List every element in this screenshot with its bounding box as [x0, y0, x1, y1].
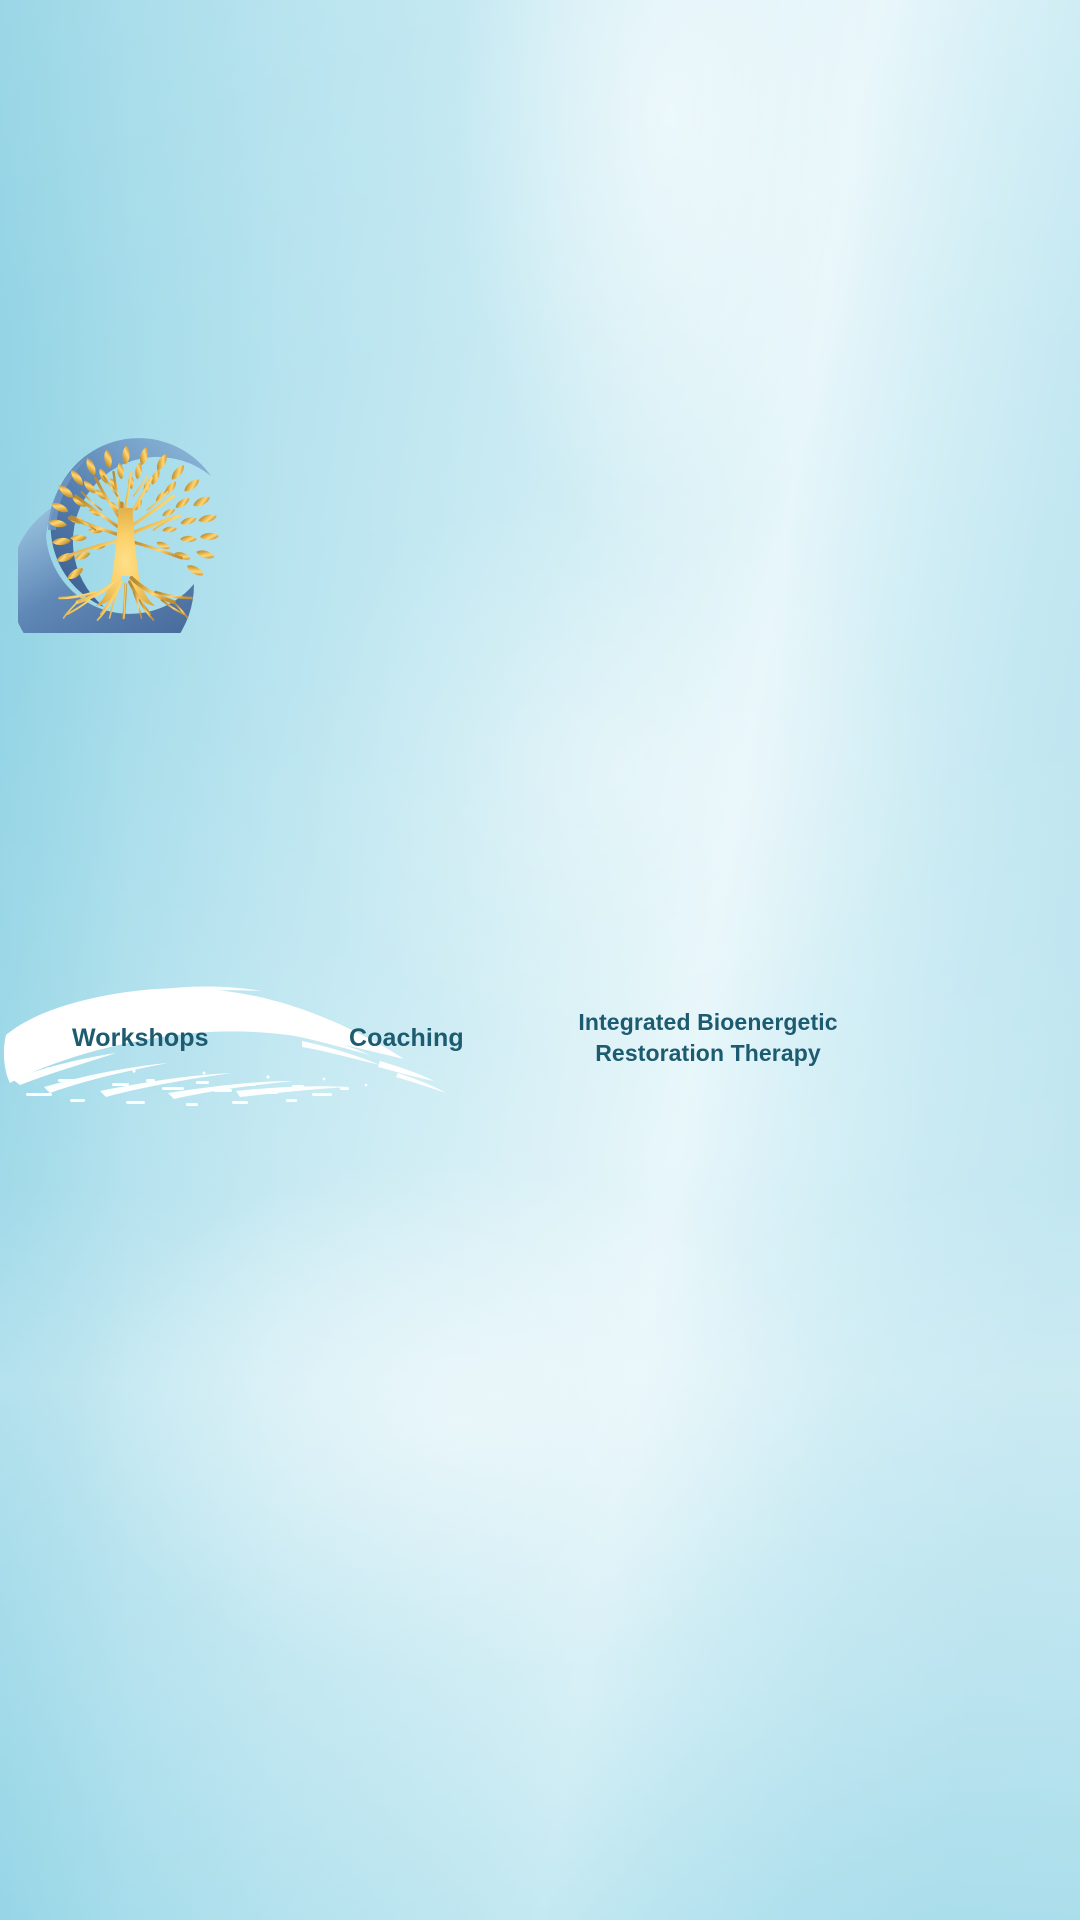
background-highlight-top — [0, 0, 1080, 1920]
background-vertical-glow — [0, 0, 1080, 1920]
site-logo[interactable] — [18, 418, 233, 633]
service-nav: Workshops Coaching Integrated Bioenerget… — [0, 975, 1080, 1110]
background-highlight-bottom — [0, 0, 1080, 1920]
nav-item-integrated-bioenergetic-restoration-therapy[interactable]: Integrated Bioenergetic Restoration Ther… — [574, 1007, 842, 1070]
nav-item-coaching[interactable]: Coaching — [349, 1024, 464, 1053]
background-base-gradient — [0, 0, 1080, 1920]
background-highlight-mid — [0, 0, 1080, 1920]
page-root: Workshops Coaching Integrated Bioenerget… — [0, 0, 1080, 1920]
tree-of-life-icon — [18, 418, 233, 633]
nav-item-workshops[interactable]: Workshops — [72, 1024, 209, 1053]
background-left-tint — [0, 0, 1080, 1920]
background-bottom-tint — [0, 0, 1080, 1920]
